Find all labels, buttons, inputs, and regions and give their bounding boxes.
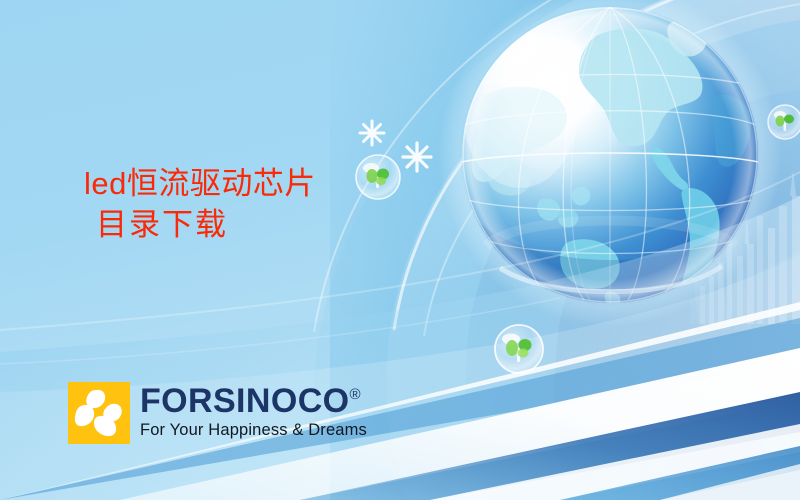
registered-mark-icon: ® [350,386,361,403]
logo-tagline: For Your Happiness & Dreams [140,421,367,440]
banner-canvas: led恒流驱动芯片 目录下载 FORSINOCO® For Your Happi… [0,0,800,500]
brand-logo[interactable]: FORSINOCO® For Your Happiness & Dreams [68,382,367,444]
page-title: led恒流驱动芯片 目录下载 [84,164,316,246]
page-title-line1: led恒流驱动芯片 [84,164,316,205]
logo-wordmark-text: FORSINOCO [140,382,350,420]
four-petal-flower-icon [68,382,130,444]
logo-wordmark: FORSINOCO® [140,384,367,418]
logo-text-block: FORSINOCO® For Your Happiness & Dreams [140,382,367,440]
page-title-line2: 目录下载 [84,205,316,246]
